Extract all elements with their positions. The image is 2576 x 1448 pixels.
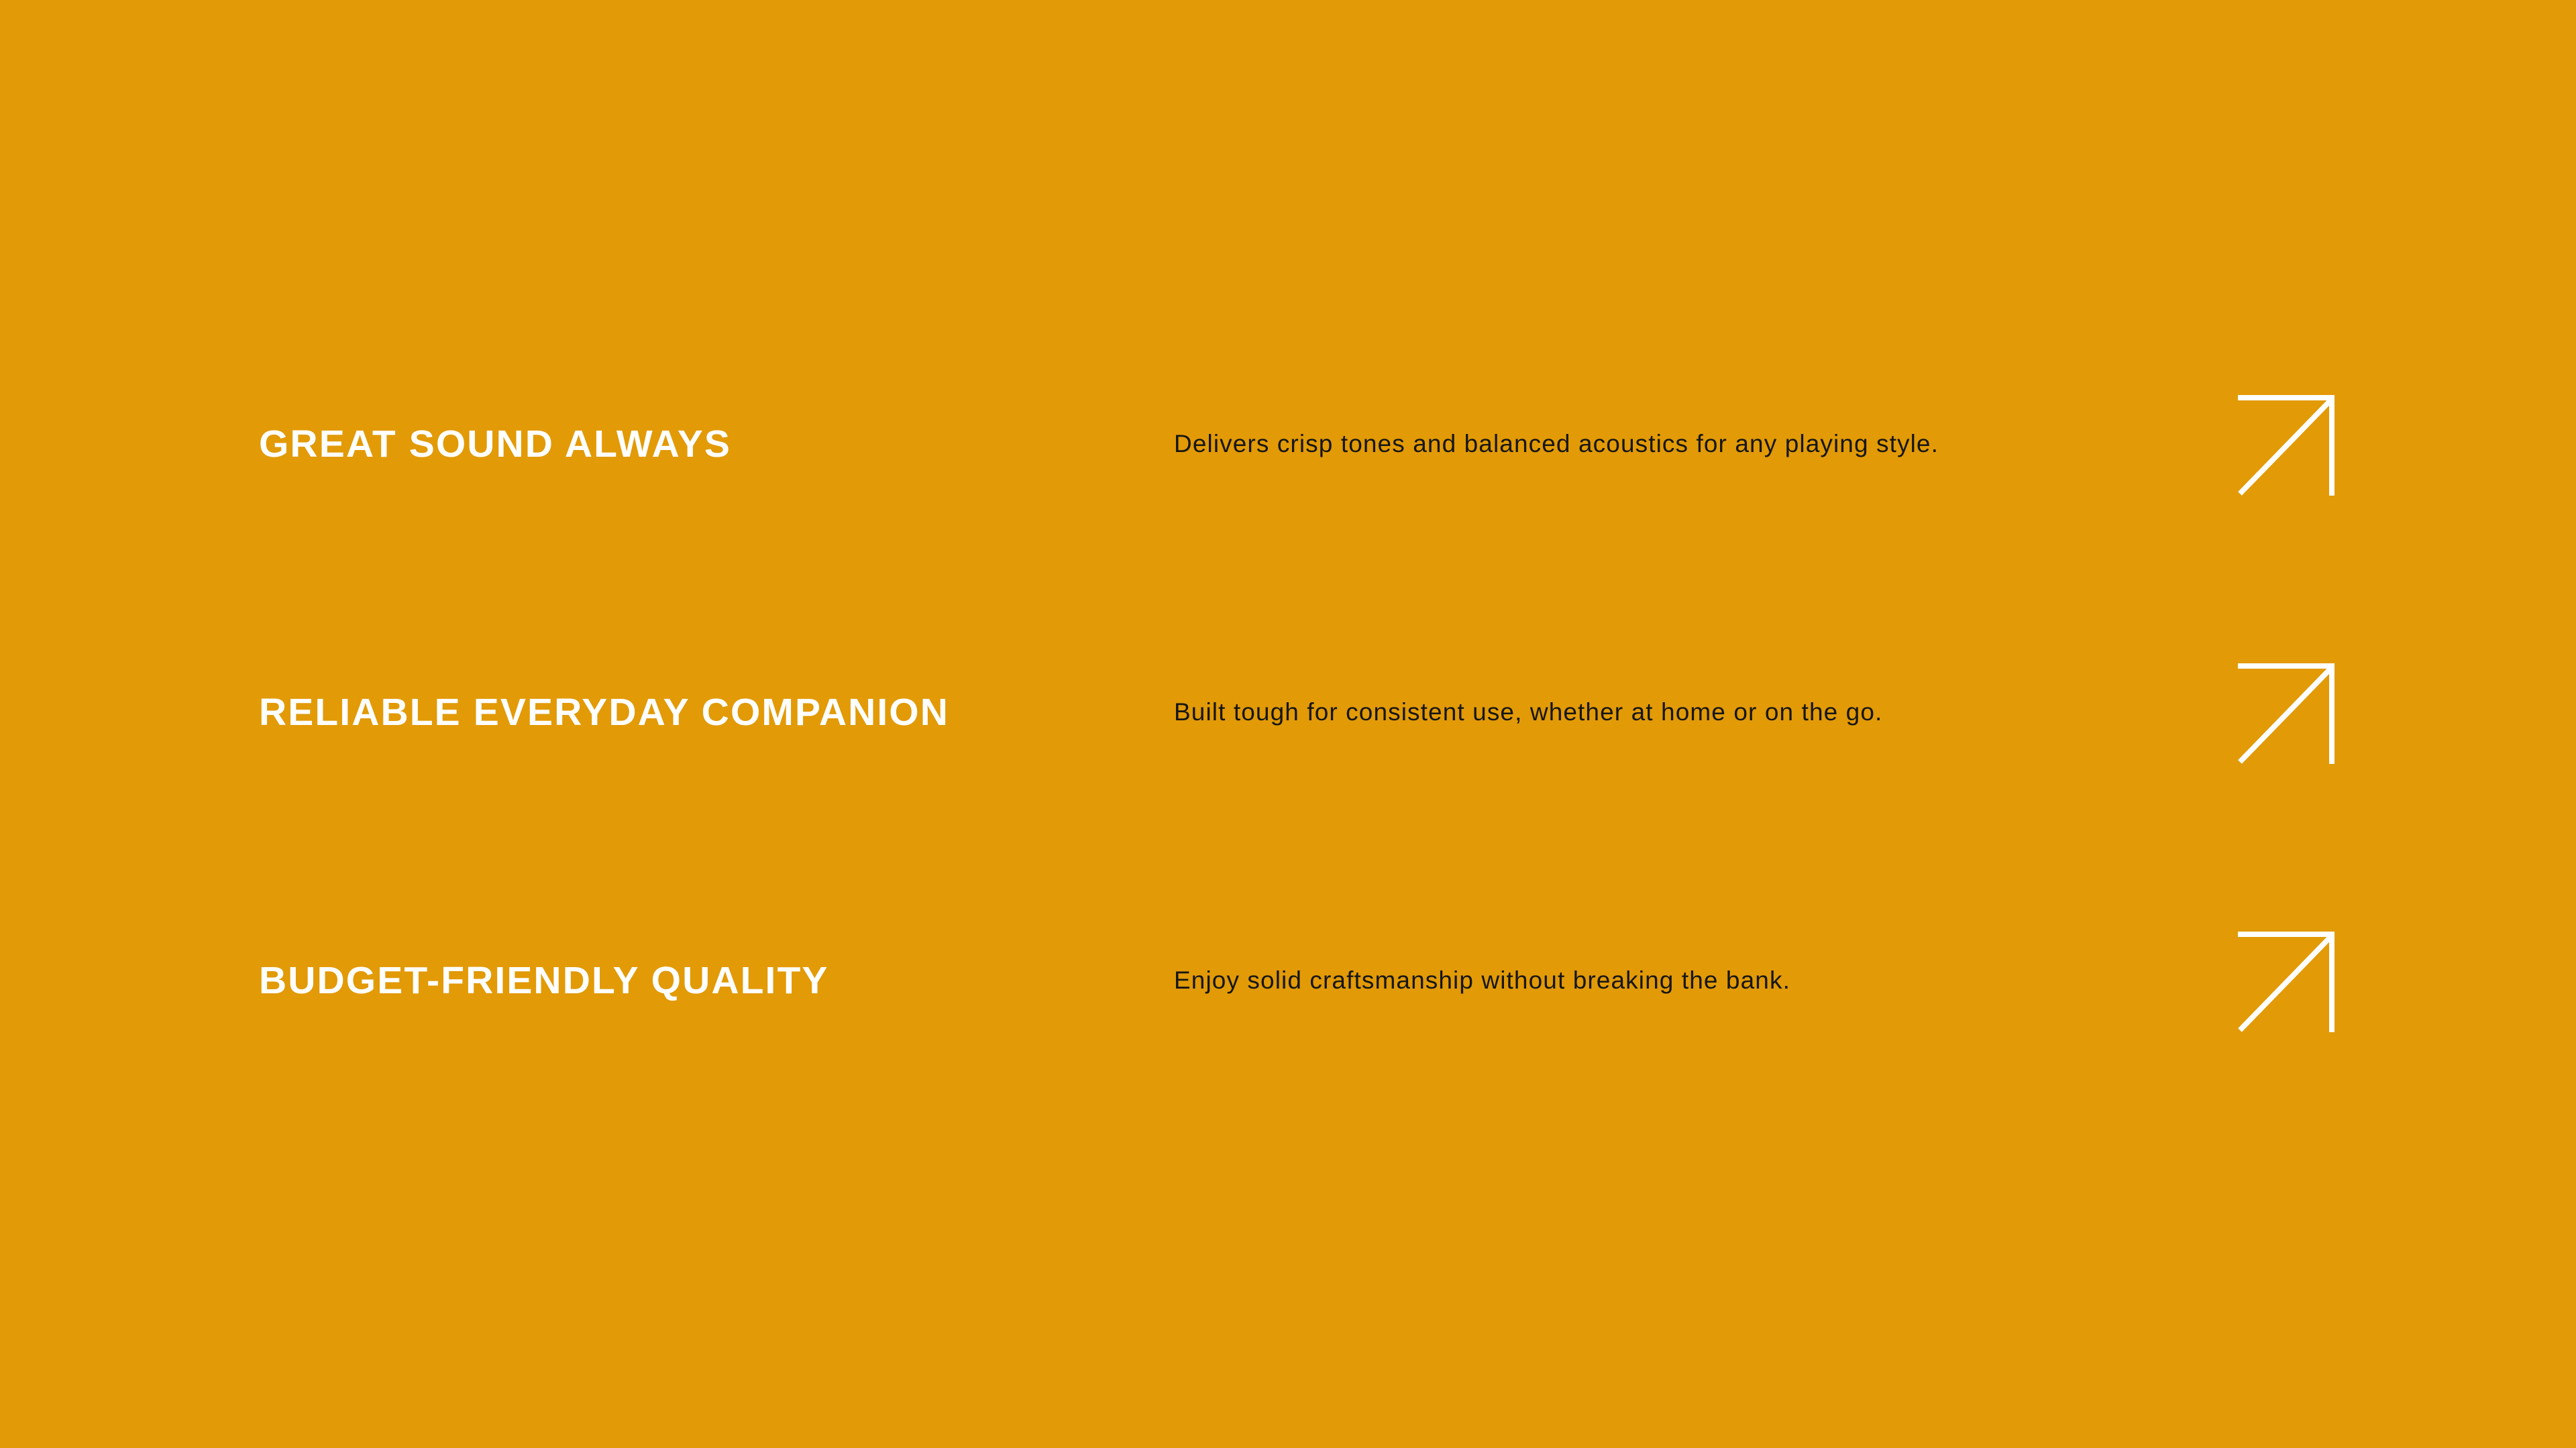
feature-description: Built tough for consistent use, whether … bbox=[1171, 695, 2227, 729]
arrow-up-right-icon[interactable] bbox=[2237, 928, 2337, 1034]
feature-row[interactable]: RELIABLE EVERYDAY COMPANION Built tough … bbox=[259, 659, 2321, 766]
feature-description: Delivers crisp tones and balanced acoust… bbox=[1171, 427, 2227, 461]
feature-description: Enjoy solid craftsmanship without breaki… bbox=[1171, 964, 2227, 997]
feature-row[interactable]: BUDGET-FRIENDLY QUALITY Enjoy solid craf… bbox=[259, 927, 2321, 1034]
feature-title: BUDGET-FRIENDLY QUALITY bbox=[259, 960, 1171, 1002]
feature-list: GREAT SOUND ALWAYS Delivers crisp tones … bbox=[0, 0, 2576, 1448]
feature-title: RELIABLE EVERYDAY COMPANION bbox=[259, 691, 1171, 734]
arrow-up-right-icon[interactable] bbox=[2237, 660, 2337, 765]
feature-title: GREAT SOUND ALWAYS bbox=[259, 423, 1171, 465]
feature-row[interactable]: GREAT SOUND ALWAYS Delivers crisp tones … bbox=[259, 390, 2321, 498]
feature-highlights-panel: GREAT SOUND ALWAYS Delivers crisp tones … bbox=[0, 0, 2576, 1448]
arrow-up-right-icon[interactable] bbox=[2237, 392, 2337, 497]
